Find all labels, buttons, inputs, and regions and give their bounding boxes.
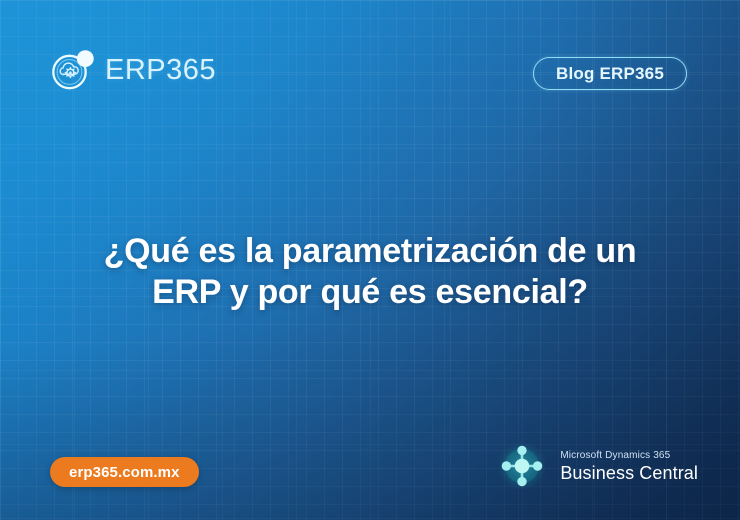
partner-superline-label: Microsoft Dynamics 365 xyxy=(560,451,698,461)
dynamics-hub-spoke-icon xyxy=(496,440,548,492)
partner-text: Microsoft Dynamics 365 Business Central xyxy=(560,451,698,482)
cloud-gear-circle-icon xyxy=(50,48,96,92)
page-title: ¿Qué es la parametrización de un ERP y p… xyxy=(0,231,740,314)
brand-logo[interactable]: ERP365 xyxy=(50,48,216,92)
headline-line-2: ERP y por qué es esencial? xyxy=(30,272,710,313)
blog-badge[interactable]: Blog ERP365 xyxy=(533,57,687,90)
website-url-label: erp365.com.mx xyxy=(69,464,180,481)
partner-mainline-label: Business Central xyxy=(560,464,698,482)
headline-line-1: ¿Qué es la parametrización de un xyxy=(30,231,710,272)
blog-banner: ERP365 Blog ERP365 ¿Qué es la parametriz… xyxy=(0,0,740,520)
brand-name-label: ERP365 xyxy=(105,54,216,87)
blog-badge-label: Blog ERP365 xyxy=(556,64,664,84)
partner-logo: Microsoft Dynamics 365 Business Central xyxy=(496,440,698,492)
website-url-badge[interactable]: erp365.com.mx xyxy=(50,457,199,487)
